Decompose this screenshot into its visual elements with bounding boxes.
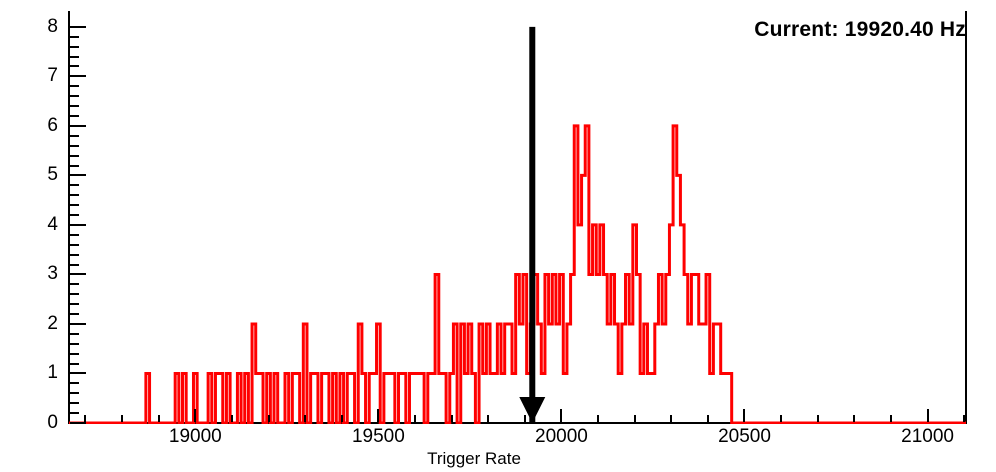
y-tick-minor (70, 234, 79, 236)
x-tick-minor (707, 415, 709, 422)
y-tick-minor (70, 184, 79, 186)
trigger-rate-plot: Current: 19920.40 Hz 012345678 190001950… (0, 0, 996, 472)
y-tick-minor (70, 254, 79, 256)
x-tick-label: 19000 (169, 426, 222, 448)
x-tick-major (377, 409, 379, 422)
y-tick-major (70, 26, 86, 28)
x-tick-minor (634, 415, 636, 422)
y-tick-label: 2 (30, 314, 58, 333)
y-tick-minor (70, 36, 79, 38)
y-tick-minor (70, 402, 79, 404)
y-tick-minor (70, 135, 79, 137)
y-tick-minor (70, 244, 79, 246)
y-tick-major (70, 372, 86, 374)
y-tick-minor (70, 155, 79, 157)
y-tick-minor (70, 115, 79, 117)
x-tick-minor (231, 415, 233, 422)
x-tick-minor (84, 415, 86, 422)
x-tick-minor (268, 415, 270, 422)
y-tick-minor (70, 165, 79, 167)
x-tick-minor (817, 415, 819, 422)
x-tick-minor (524, 415, 526, 422)
y-tick-minor (70, 382, 79, 384)
y-tick-minor (70, 283, 79, 285)
y-tick-minor (70, 105, 79, 107)
y-tick-major (70, 323, 86, 325)
x-tick-minor (597, 415, 599, 422)
current-rate-marker (68, 11, 967, 424)
x-tick-minor (487, 415, 489, 422)
y-tick-minor (70, 85, 79, 87)
y-tick-label: 6 (30, 116, 58, 135)
x-tick-minor (963, 415, 965, 422)
y-tick-minor (70, 145, 79, 147)
x-tick-label: 19500 (352, 426, 405, 448)
x-tick-minor (670, 415, 672, 422)
x-tick-label: 20500 (718, 426, 771, 448)
y-tick-minor (70, 214, 79, 216)
y-tick-minor (70, 204, 79, 206)
y-tick-major (70, 224, 86, 226)
x-tick-major (560, 409, 562, 422)
y-tick-label: 5 (30, 165, 58, 184)
x-tick-label: 21000 (901, 426, 954, 448)
y-tick-minor (70, 363, 79, 365)
y-tick-label: 8 (30, 17, 58, 36)
y-tick-minor (70, 343, 79, 345)
x-tick-minor (414, 415, 416, 422)
x-tick-minor (890, 415, 892, 422)
x-tick-minor (158, 415, 160, 422)
y-tick-minor (70, 194, 79, 196)
x-tick-minor (304, 415, 306, 422)
x-tick-major (927, 409, 929, 422)
x-tick-minor (121, 415, 123, 422)
x-tick-major (743, 409, 745, 422)
y-tick-major (70, 174, 86, 176)
x-tick-minor (451, 415, 453, 422)
x-tick-minor (341, 415, 343, 422)
x-tick-minor (853, 415, 855, 422)
y-tick-minor (70, 264, 79, 266)
y-tick-major (70, 75, 86, 77)
y-tick-major (70, 273, 86, 275)
y-tick-minor (70, 353, 79, 355)
y-tick-minor (70, 303, 79, 305)
y-tick-minor (70, 293, 79, 295)
x-tick-major (194, 409, 196, 422)
y-tick-minor (70, 412, 79, 414)
y-tick-minor (70, 46, 79, 48)
x-tick-minor (780, 415, 782, 422)
y-tick-label: 0 (30, 413, 58, 432)
y-tick-label: 7 (30, 66, 58, 85)
y-tick-major (70, 125, 86, 127)
y-tick-minor (70, 65, 79, 67)
x-tick-label: 20000 (535, 426, 588, 448)
y-tick-label: 3 (30, 264, 58, 283)
y-tick-minor (70, 392, 79, 394)
y-tick-label: 1 (30, 363, 58, 382)
x-axis-title: Trigger Rate (427, 449, 521, 469)
y-tick-minor (70, 95, 79, 97)
y-tick-minor (70, 56, 79, 58)
y-tick-minor (70, 313, 79, 315)
y-tick-label: 4 (30, 215, 58, 234)
y-tick-major (70, 422, 86, 424)
y-tick-minor (70, 333, 79, 335)
plot-frame (68, 11, 967, 424)
